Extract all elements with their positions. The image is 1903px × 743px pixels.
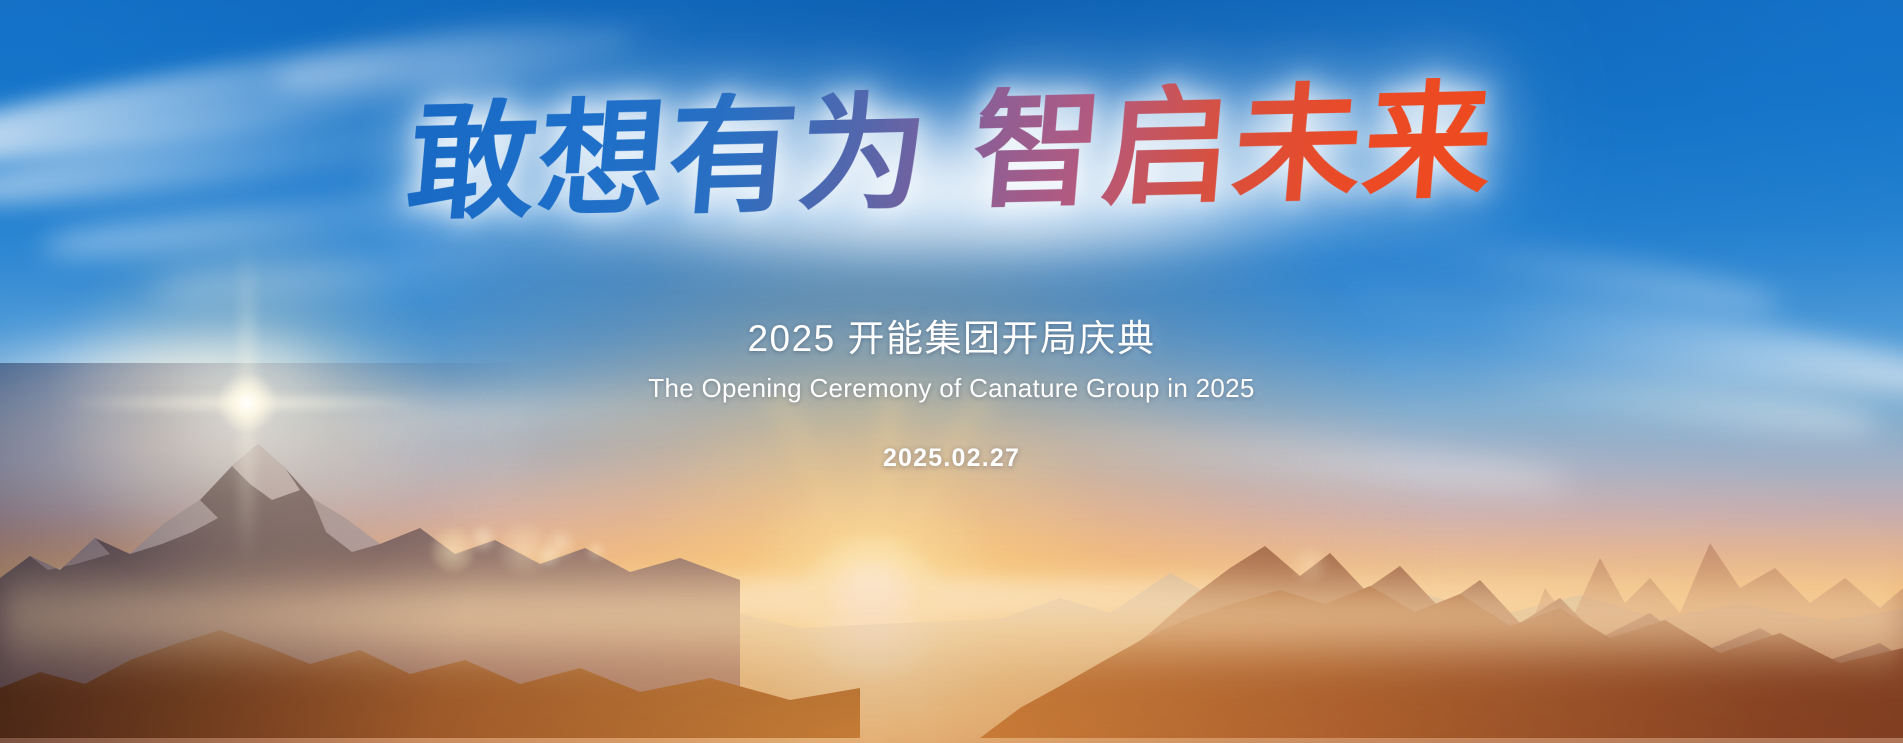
event-date: 2025.02.27	[0, 444, 1903, 473]
subtitle-chinese: 2025 开能集团开局庆典	[0, 316, 1903, 362]
lens-flare-orb	[585, 540, 607, 562]
subtitle-english: The Opening Ceremony of Canature Group i…	[0, 373, 1903, 404]
headline-spacer	[926, 196, 970, 197]
headline-container: 敢想有为智启未来	[0, 88, 1903, 216]
lens-flare-orb	[1290, 545, 1330, 585]
event-banner: 敢想有为智启未来 2025 开能集团开局庆典 The Opening Cerem…	[0, 0, 1903, 743]
subtitle-block: 2025 开能集团开局庆典 The Opening Ceremony of Ca…	[0, 316, 1903, 473]
headline-left-phrase: 敢想有为	[402, 77, 936, 238]
lens-flare-orb	[468, 524, 498, 554]
headline-right-phrase: 智启未来	[967, 66, 1501, 227]
lens-flare-orb	[536, 543, 562, 569]
headline-calligraphy: 敢想有为智启未来	[403, 77, 1500, 228]
